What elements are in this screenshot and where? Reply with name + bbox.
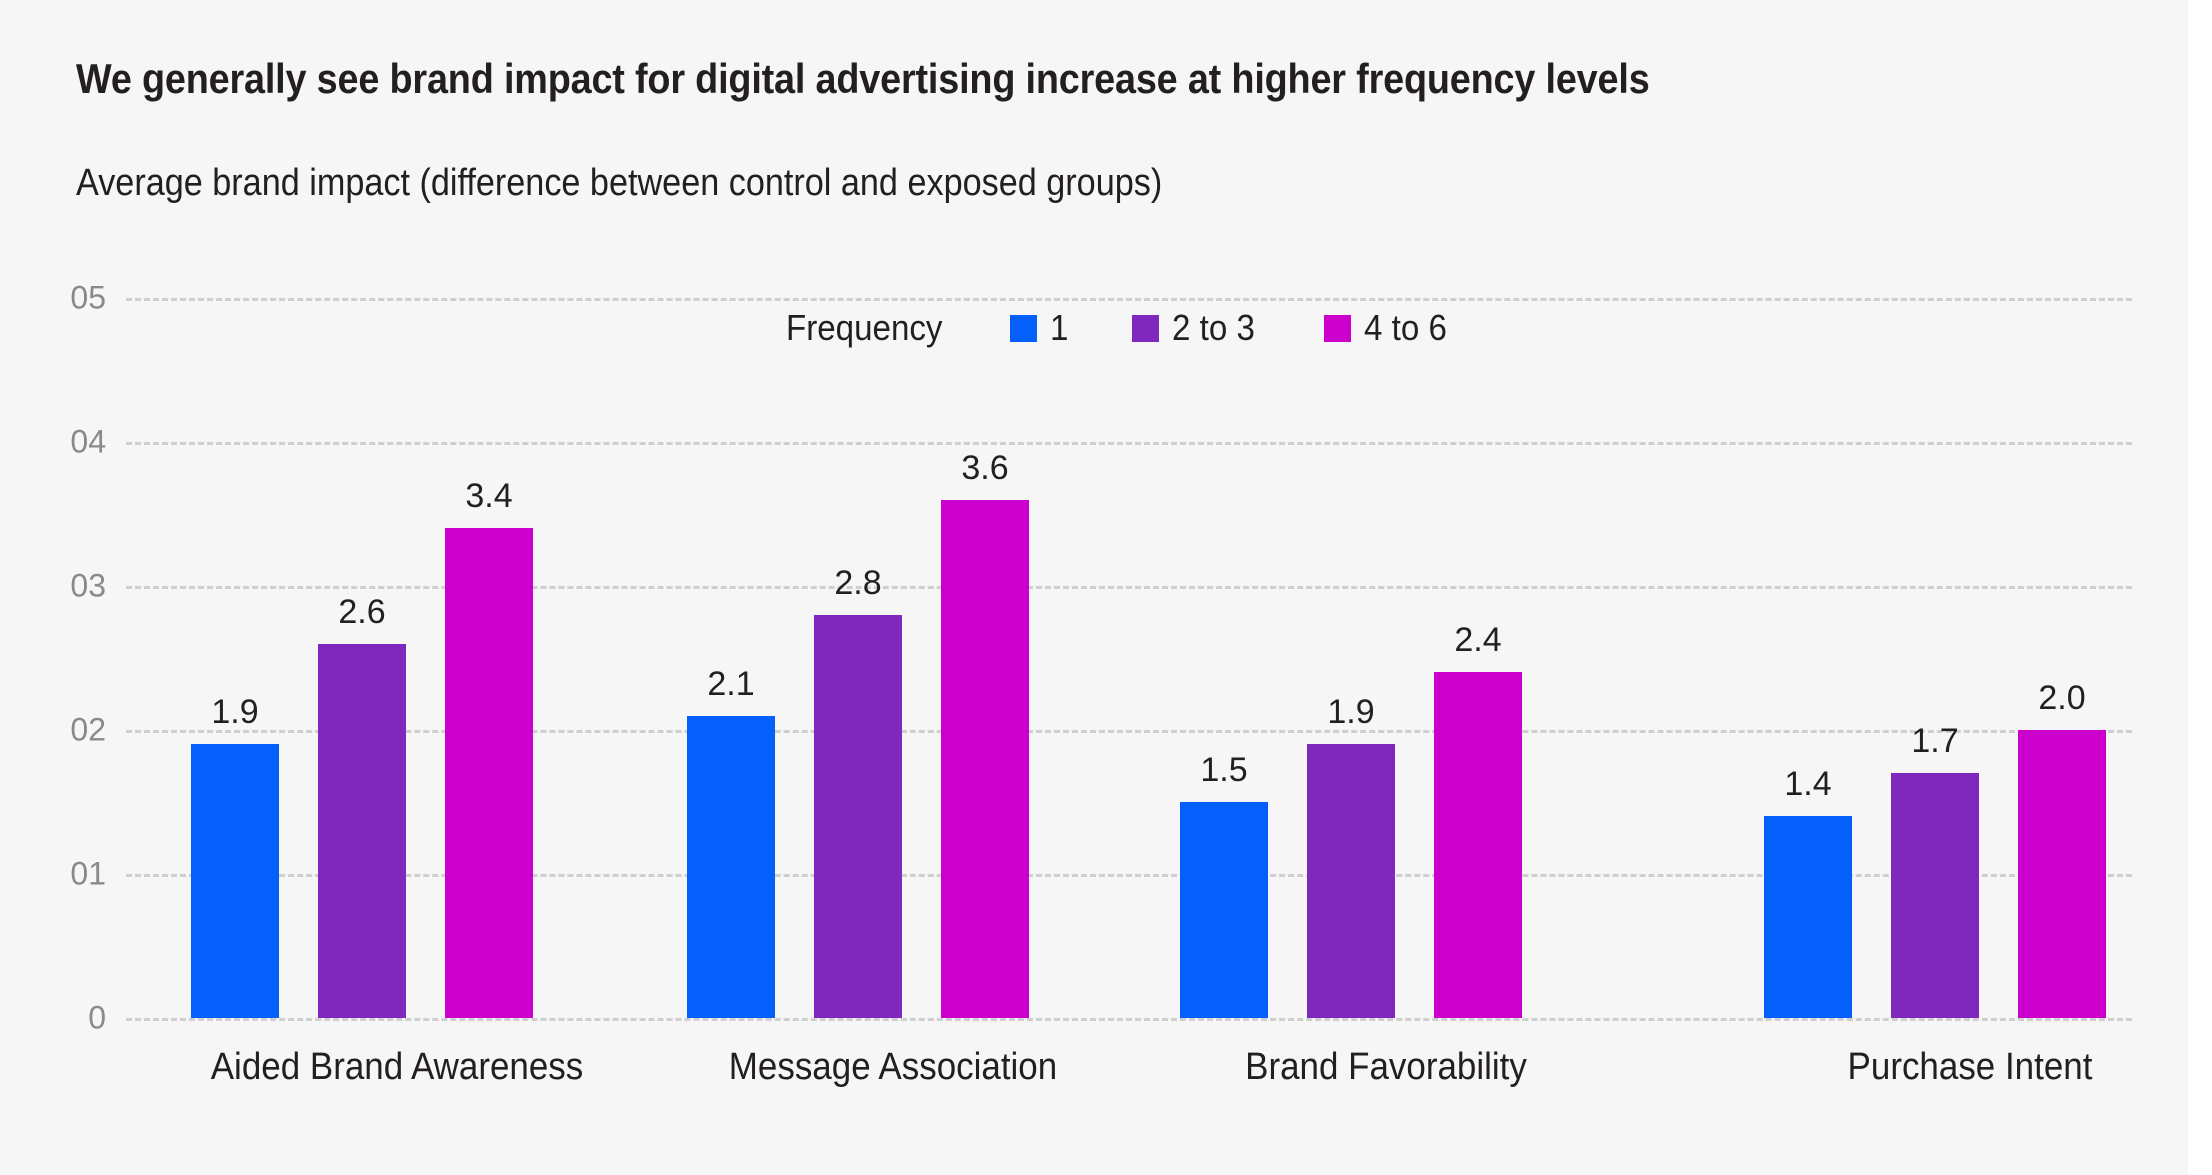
bar[interactable] [1891, 773, 1979, 1018]
bar[interactable] [687, 716, 775, 1018]
bar-value-label: 2.8 [834, 564, 881, 603]
bar[interactable] [814, 615, 902, 1018]
bar-value-label: 2.0 [2038, 679, 2085, 718]
bar-column[interactable]: 1.5 [1180, 298, 1268, 1018]
chart-card: We generally see brand impact for digita… [0, 0, 2188, 1175]
bar[interactable] [2018, 730, 2106, 1018]
bar-value-label: 2.4 [1454, 621, 1501, 660]
bar[interactable] [941, 500, 1029, 1018]
bar[interactable] [1307, 744, 1395, 1018]
bar-value-label: 3.6 [961, 449, 1008, 488]
bar[interactable] [1434, 672, 1522, 1018]
bar-column[interactable]: 2.0 [2018, 298, 2106, 1018]
y-axis-tick-label: 05 [40, 280, 106, 317]
gridline [126, 1018, 2132, 1021]
bar-column[interactable]: 2.4 [1434, 298, 1522, 1018]
y-axis-tick-label: 0 [40, 1000, 106, 1037]
bar[interactable] [445, 528, 533, 1018]
bar-value-label: 1.5 [1200, 751, 1247, 790]
bar-value-label: 1.4 [1784, 765, 1831, 804]
bar[interactable] [191, 744, 279, 1018]
bar-column[interactable]: 3.6 [941, 298, 1029, 1018]
bar-column[interactable]: 1.7 [1891, 298, 1979, 1018]
bar[interactable] [1180, 802, 1268, 1018]
y-axis-tick-label: 02 [40, 712, 106, 749]
bar-value-label: 3.4 [465, 477, 512, 516]
plot-area: 050403020101.92.63.4Aided Brand Awarenes… [0, 0, 2188, 1175]
y-axis-tick-label: 01 [40, 856, 106, 893]
bar-value-label: 1.9 [1327, 693, 1374, 732]
bar-column[interactable]: 1.4 [1764, 298, 1852, 1018]
bar-column[interactable]: 3.4 [445, 298, 533, 1018]
bar-value-label: 2.6 [338, 593, 385, 632]
bar-group: 1.41.72.0 [1764, 298, 2106, 1018]
bar-column[interactable]: 2.1 [687, 298, 775, 1018]
bar-column[interactable]: 2.8 [814, 298, 902, 1018]
bar-column[interactable]: 1.9 [1307, 298, 1395, 1018]
y-axis-tick-label: 04 [40, 424, 106, 461]
bar-column[interactable]: 1.9 [191, 298, 279, 1018]
x-axis-category-label: Purchase Intent [1602, 1046, 2212, 1089]
bar-column[interactable]: 2.6 [318, 298, 406, 1018]
bar[interactable] [318, 644, 406, 1018]
bar-group: 1.92.63.4 [191, 298, 533, 1018]
bar-group: 1.51.92.4 [1180, 298, 1522, 1018]
bar-value-label: 2.1 [707, 665, 754, 704]
bar[interactable] [1764, 816, 1852, 1018]
bar-value-label: 1.9 [211, 693, 258, 732]
bar-value-label: 1.7 [1911, 722, 1958, 761]
y-axis-tick-label: 03 [40, 568, 106, 605]
bar-group: 2.12.83.6 [687, 298, 1029, 1018]
